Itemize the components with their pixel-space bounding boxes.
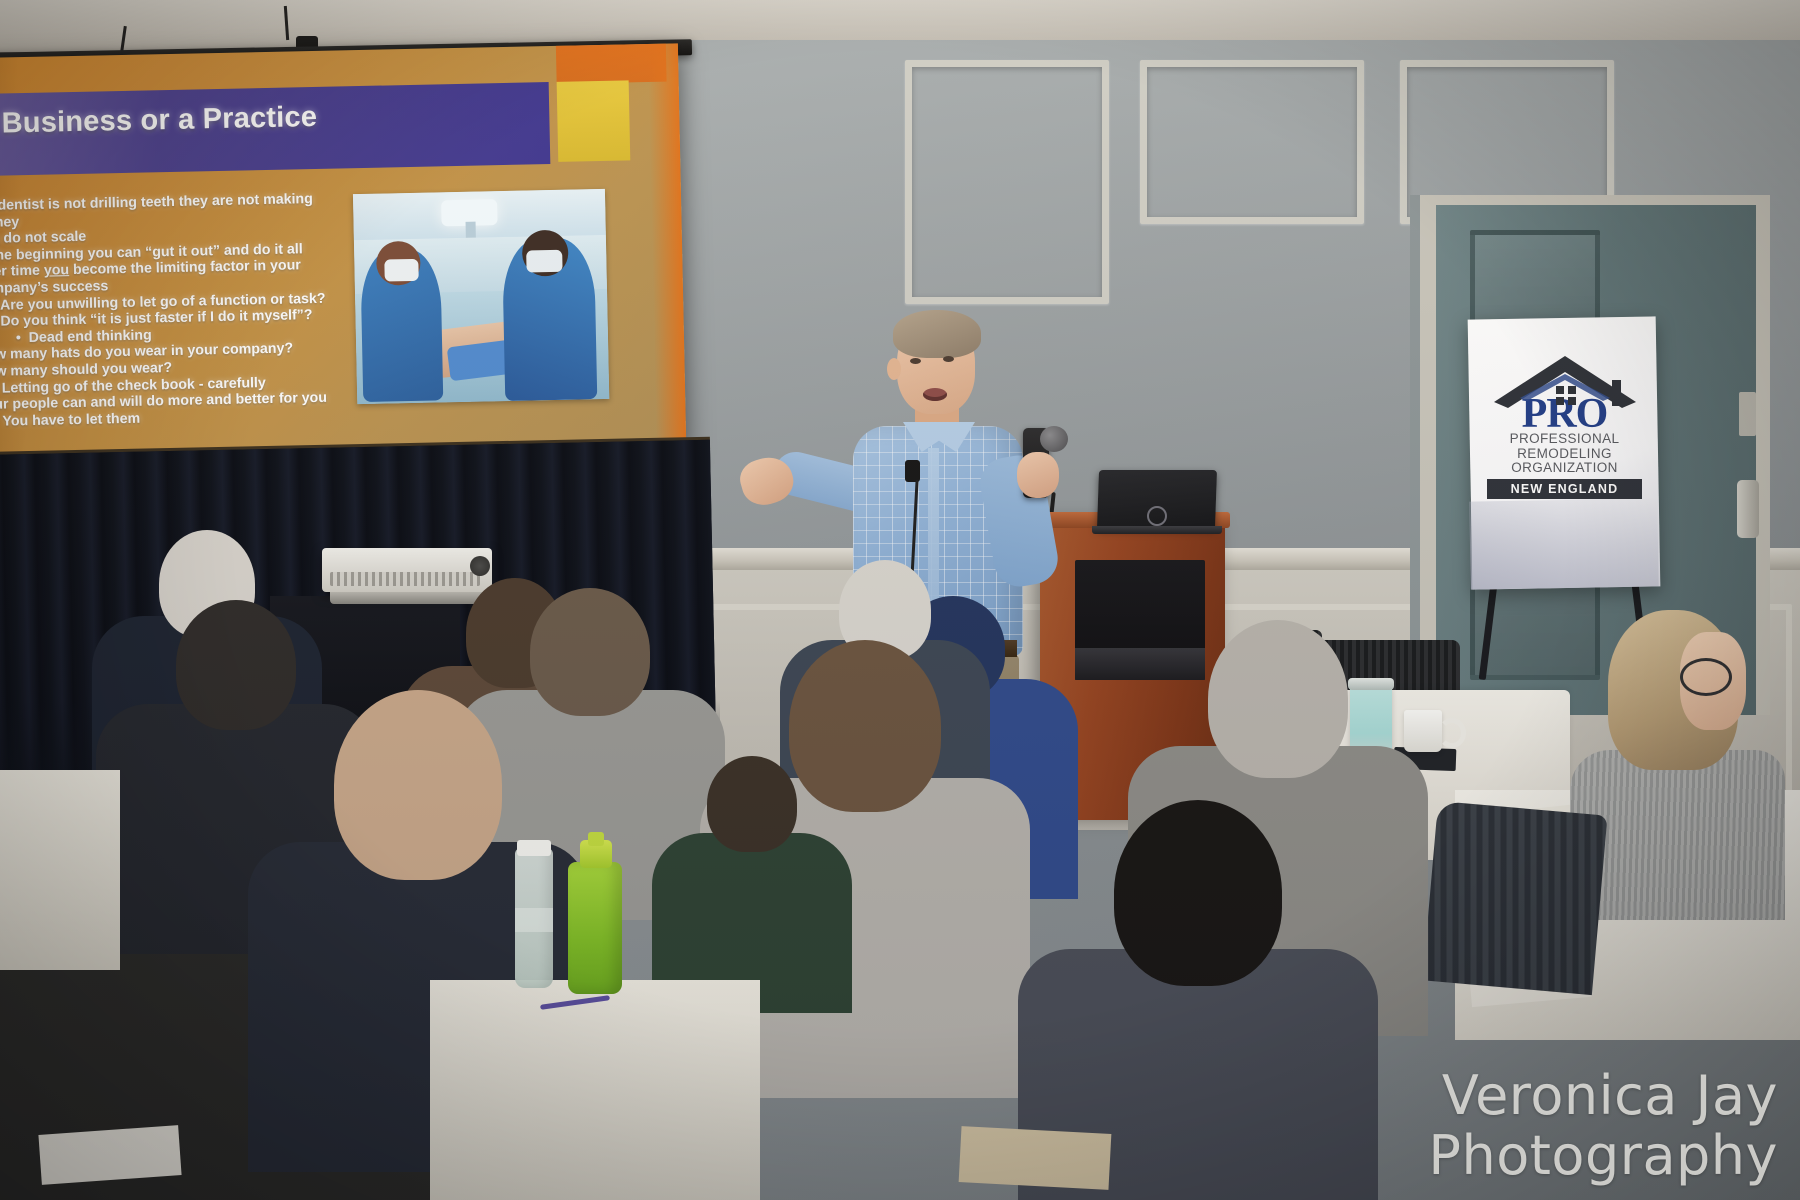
- house-roof-icon: [1490, 352, 1640, 410]
- photograph-scene: A Business or a Practice If a dentist is…: [0, 0, 1800, 1200]
- pro-logo-line2: REMODELING: [1487, 447, 1642, 462]
- presenter-ear: [887, 358, 901, 380]
- sport-water-bottle: [568, 862, 622, 994]
- attendee-head: [707, 756, 797, 852]
- water-bottle-label: [515, 908, 553, 932]
- presenter-eye: [910, 358, 921, 364]
- watermark-line-1: Veronica Jay: [1428, 1066, 1778, 1126]
- attendee-head: [1208, 620, 1348, 778]
- water-bottle-cap: [517, 840, 551, 856]
- door-handle[interactable]: [1737, 480, 1759, 538]
- pro-logo: PRO PROFESSIONAL REMODELING ORGANIZATION…: [1487, 352, 1642, 499]
- attendee-head: [334, 690, 502, 880]
- pro-logo-line3: ORGANIZATION: [1487, 461, 1642, 476]
- lapel-microphone-icon: [905, 460, 920, 482]
- wall-molding-panel: [905, 60, 1109, 304]
- photo-dentist-mask: [526, 250, 562, 273]
- projector-lens: [470, 556, 490, 576]
- presenter-hair: [893, 310, 981, 358]
- attendee-head: [1114, 800, 1282, 986]
- wall-molding-panel: [1140, 60, 1364, 224]
- pro-logo-line1: PROFESSIONAL: [1487, 432, 1642, 447]
- presenter-right-hand: [1017, 452, 1059, 498]
- presenter-eye: [943, 356, 954, 362]
- door-strike-plate: [1739, 392, 1756, 436]
- eyeglasses-icon: [1680, 658, 1732, 696]
- paper-handout: [38, 1125, 181, 1185]
- pro-logo-chapter: NEW ENGLAND: [1487, 479, 1642, 499]
- sport-bottle-nozzle: [588, 832, 604, 846]
- foreground-table: [430, 980, 760, 1200]
- photographer-watermark: Veronica Jay Photography: [1428, 1066, 1778, 1186]
- dell-logo-icon: [1147, 506, 1167, 526]
- paper-handout: [959, 1126, 1112, 1190]
- microphone-head-icon: [1040, 426, 1068, 452]
- foreground-table: [0, 770, 120, 970]
- laptop-base: [1092, 526, 1222, 534]
- watermark-line-2: Photography: [1428, 1126, 1778, 1186]
- slide-photo: [353, 189, 609, 404]
- photo-assistant-mask: [384, 259, 418, 282]
- mug-handle: [1438, 718, 1466, 748]
- chair-shawl: [1422, 801, 1607, 995]
- pro-sign-shading: [1469, 498, 1659, 589]
- projection-screen: A Business or a Practice If a dentist is…: [0, 43, 686, 462]
- slide-body-text: If a dentist is not drilling teeth they …: [0, 191, 338, 431]
- presenter-mouth: [923, 388, 947, 401]
